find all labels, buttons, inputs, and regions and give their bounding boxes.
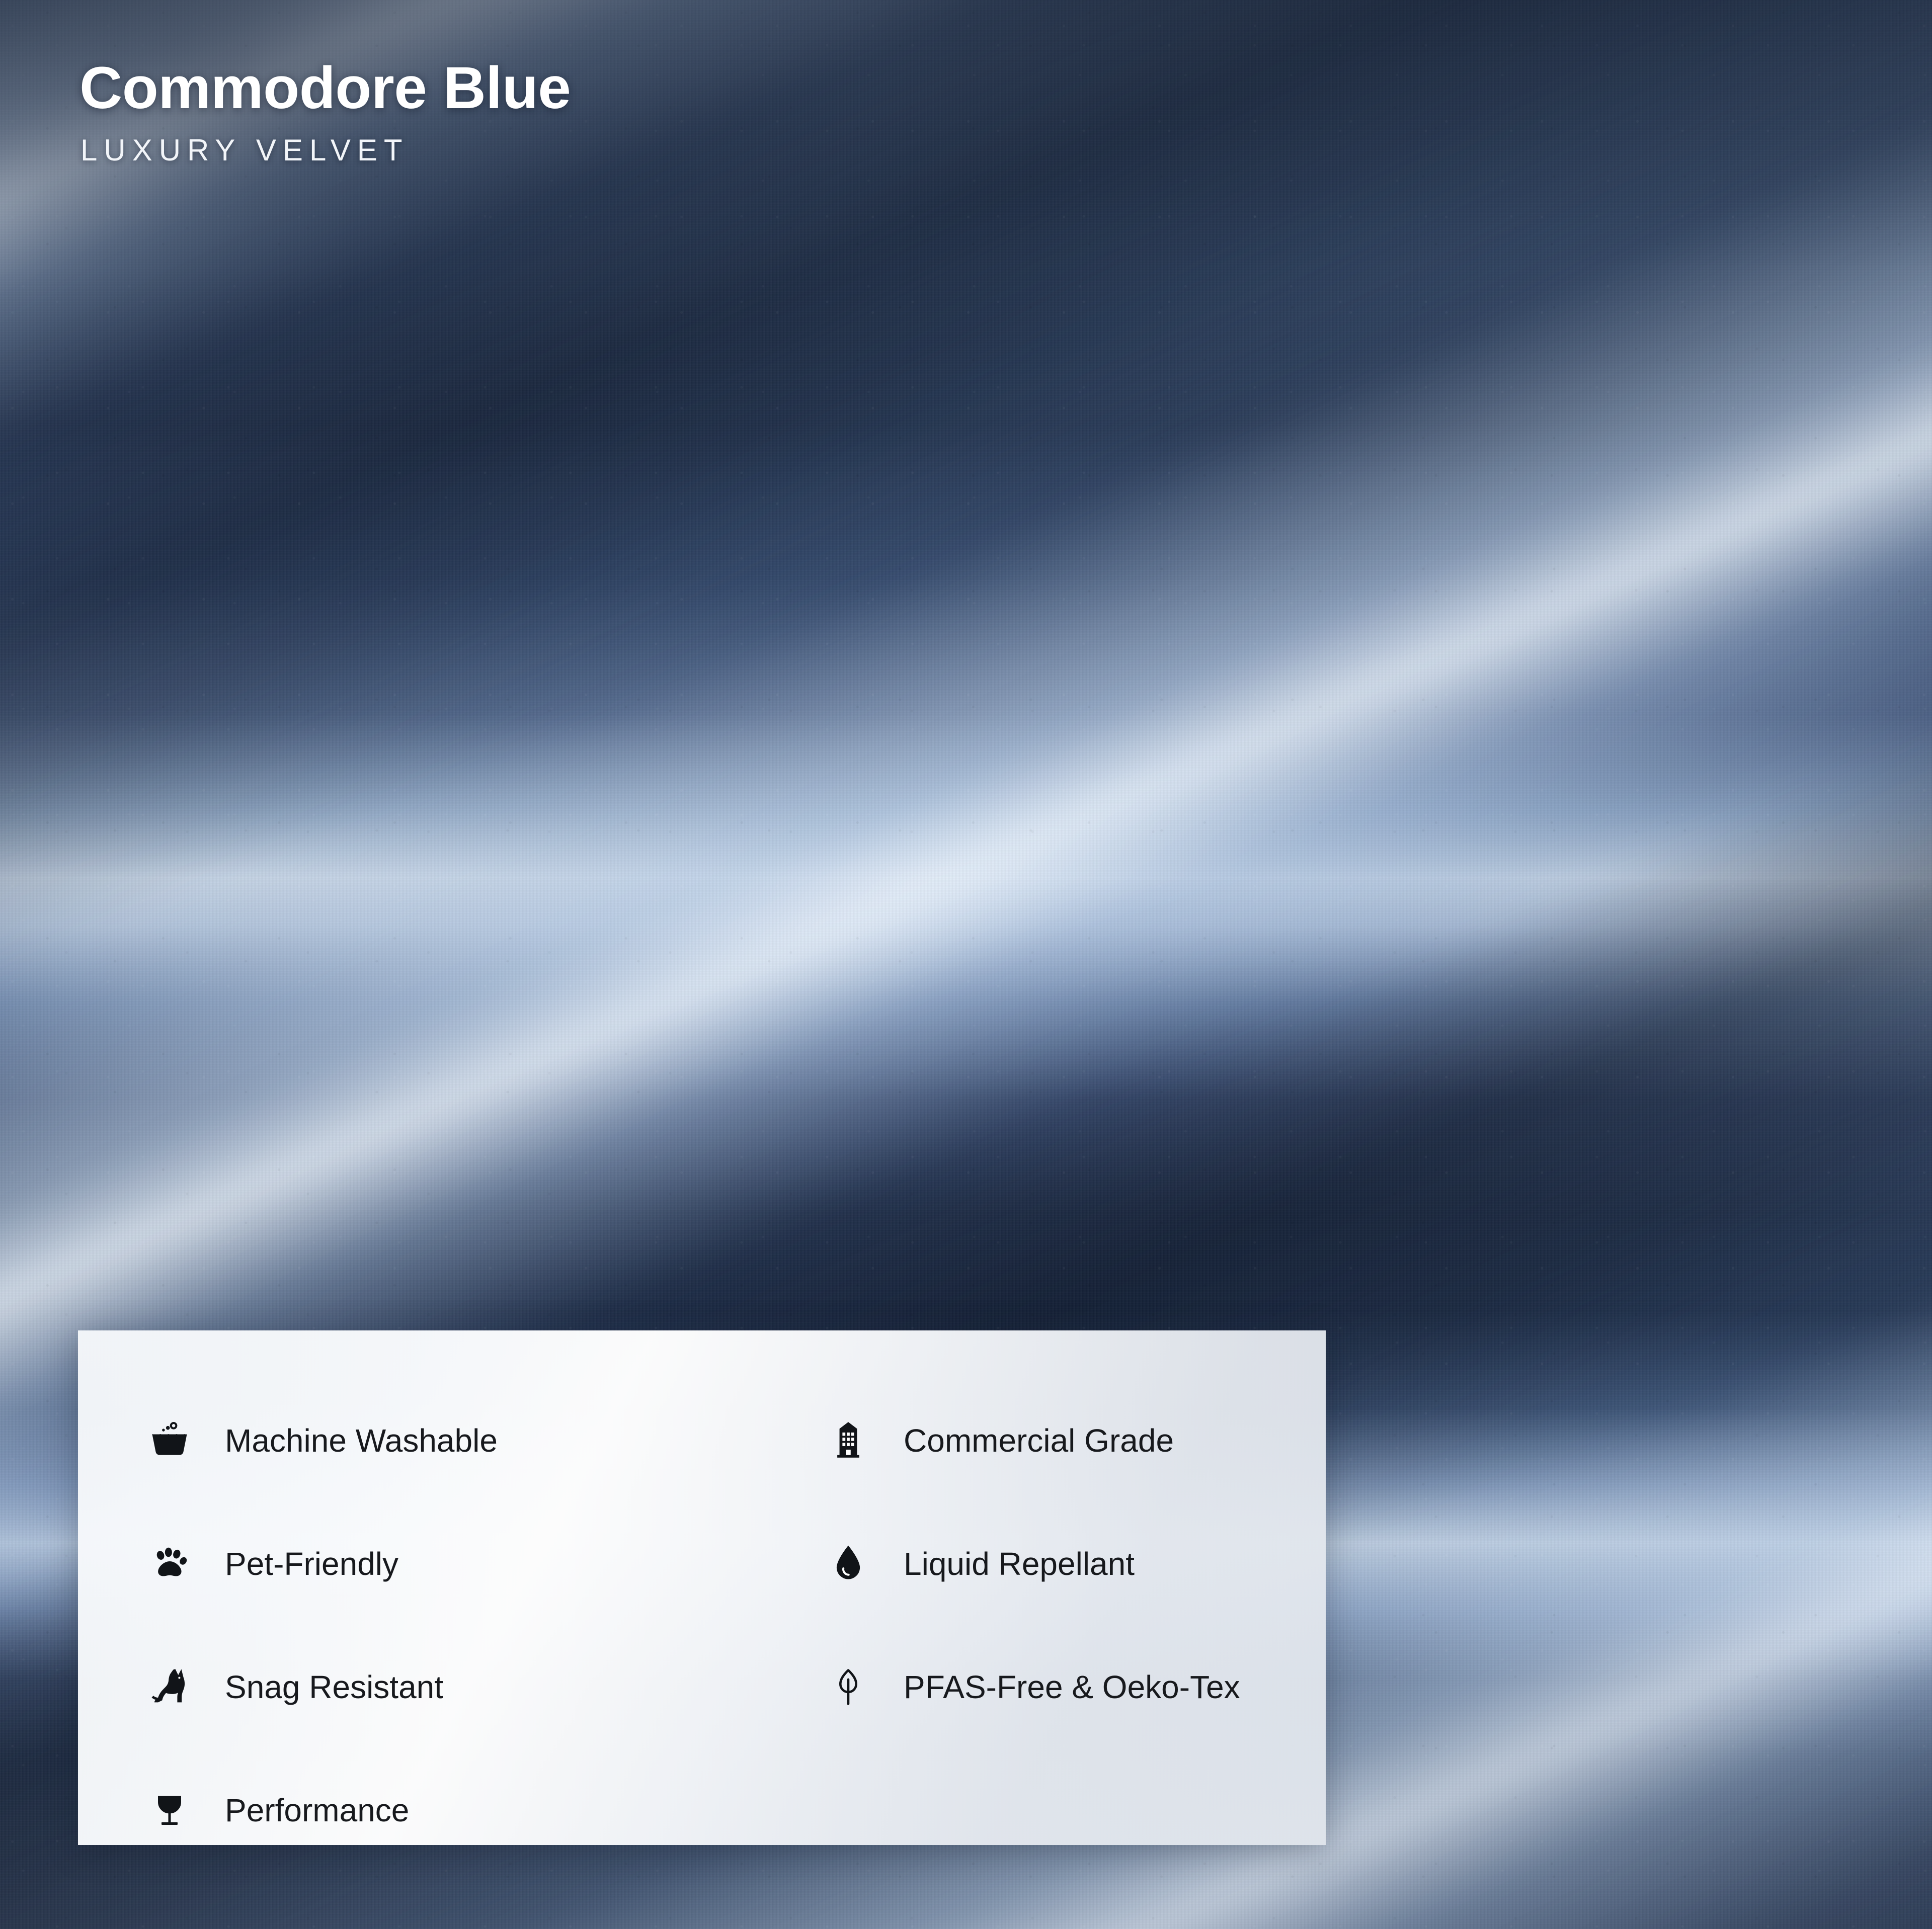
- feature-item-pfas-free-oeko-tex: PFAS-Free & Oeko-Tex: [677, 1625, 1275, 1748]
- water-drop-icon: [825, 1541, 871, 1587]
- feature-item-liquid-repellant: Liquid Repellant: [677, 1502, 1275, 1625]
- feature-item-snag-resistant: Snag Resistant: [78, 1625, 677, 1748]
- feature-label: Machine Washable: [225, 1424, 498, 1457]
- swatch-title-block: Commodore Blue LUXURY VELVET: [79, 56, 571, 165]
- feature-item-pet-friendly: Pet-Friendly: [78, 1502, 677, 1625]
- page-subtitle: LUXURY VELVET: [80, 135, 571, 165]
- building-icon: [825, 1417, 871, 1464]
- page-title: Commodore Blue: [79, 56, 571, 120]
- features-grid: Machine Washable: [78, 1379, 1326, 1872]
- wash-basin-icon: [146, 1417, 193, 1464]
- feature-item-machine-washable: Machine Washable: [78, 1379, 677, 1502]
- cat-icon: [146, 1664, 193, 1710]
- leaf-icon: [825, 1664, 871, 1710]
- feature-label: Performance: [225, 1794, 409, 1826]
- wine-glass-icon: [146, 1787, 193, 1833]
- features-panel: Machine Washable: [78, 1330, 1326, 1845]
- feature-label: Snag Resistant: [225, 1671, 443, 1703]
- feature-item-performance: Performance: [78, 1748, 677, 1872]
- feature-label: Liquid Repellant: [904, 1548, 1135, 1580]
- feature-label: Pet-Friendly: [225, 1548, 398, 1580]
- feature-item-commercial-grade: Commercial Grade: [677, 1379, 1275, 1502]
- feature-label: Commercial Grade: [904, 1424, 1174, 1457]
- fabric-swatch-card: Commodore Blue LUXURY VELVET Machine Was…: [0, 0, 1932, 1929]
- paw-print-icon: [146, 1541, 193, 1587]
- feature-label: PFAS-Free & Oeko-Tex: [904, 1671, 1240, 1703]
